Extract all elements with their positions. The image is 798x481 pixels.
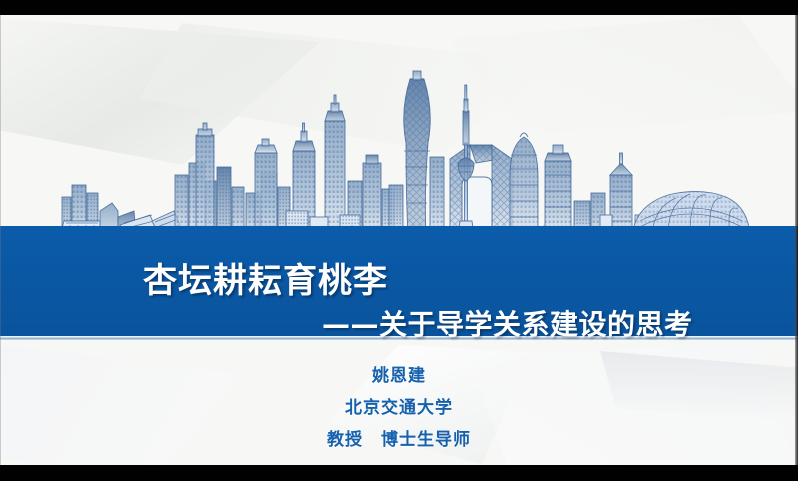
- beijing-skyline-icon: [0, 35, 798, 235]
- letterbox-bar-top: [0, 0, 798, 15]
- presentation-slide: 杏坛耕耘育桃李 ——关于导学关系建设的思考 姚恩建 北京交通大学 教授 博士生导…: [0, 15, 798, 465]
- frame-edge-left: [0, 15, 1, 465]
- presenter-name: 姚恩建: [0, 360, 798, 392]
- presenter-block: 姚恩建 北京交通大学 教授 博士生导师: [0, 360, 798, 456]
- video-frame: 杏坛耕耘育桃李 ——关于导学关系建设的思考 姚恩建 北京交通大学 教授 博士生导…: [0, 0, 798, 481]
- presenter-affiliation: 北京交通大学: [0, 392, 798, 424]
- letterbox-bar-bottom: [0, 465, 798, 481]
- slide-title: 杏坛耕耘育桃李: [143, 253, 388, 302]
- presenter-role: 教授 博士生导师: [0, 424, 798, 456]
- slide-subtitle: ——关于导学关系建设的思考: [322, 303, 693, 343]
